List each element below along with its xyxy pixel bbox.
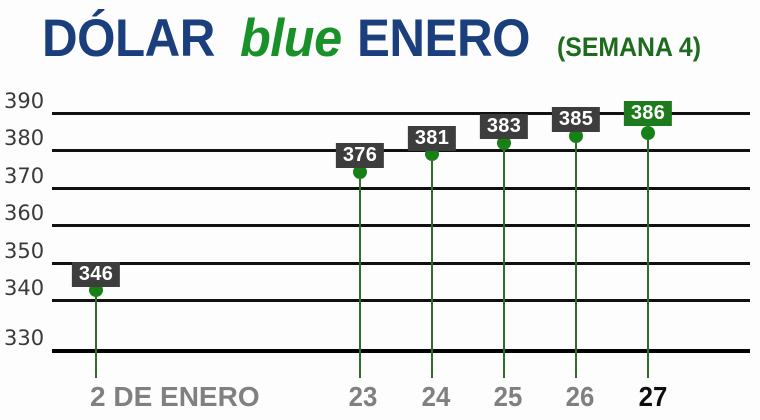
data-point-stem	[95, 297, 97, 378]
data-point-value-badge: 346	[72, 262, 120, 287]
x-axis-label-27: 27	[639, 381, 668, 413]
data-point-value-badge: 386	[624, 101, 672, 126]
y-axis-tick-340: 340	[4, 276, 50, 300]
gridline-360	[52, 224, 750, 227]
data-point-stem	[359, 179, 361, 378]
y-axis-tick-390: 390	[4, 89, 50, 113]
data-point-stem	[575, 143, 577, 378]
y-axis-tick-370: 370	[4, 164, 50, 188]
plot-area: 390380370360350340330 346376381383385386…	[0, 0, 760, 420]
gridline-380	[52, 149, 750, 152]
data-point-stem	[647, 140, 649, 378]
chart-screenshot: DÓLAR blue ENERO (SEMANA 4) 390380370360…	[0, 0, 760, 420]
x-axis-label-2-de-enero: 2 DE ENERO	[90, 381, 260, 413]
y-axis-tick-330: 330	[4, 326, 50, 350]
gridline-340	[52, 299, 750, 302]
x-axis-label-26: 26	[566, 381, 595, 413]
x-axis-label-24: 24	[422, 381, 451, 413]
data-point-marker[interactable]	[641, 126, 655, 140]
data-point-stem	[503, 150, 505, 378]
data-point-value-badge: 381	[408, 126, 456, 151]
data-point-value-badge: 383	[480, 114, 528, 139]
gridline-330	[52, 349, 750, 353]
data-point-value-badge: 376	[336, 143, 384, 168]
x-axis-label-23: 23	[349, 381, 378, 413]
y-axis-tick-350: 350	[4, 239, 50, 263]
data-point-value-badge: 385	[552, 107, 600, 132]
y-axis-tick-360: 360	[4, 201, 50, 225]
x-axis-label-25: 25	[494, 381, 523, 413]
y-axis-tick-380: 380	[4, 126, 50, 150]
data-point-stem	[431, 161, 433, 378]
gridline-370	[52, 187, 750, 190]
gridline-350	[52, 262, 750, 265]
